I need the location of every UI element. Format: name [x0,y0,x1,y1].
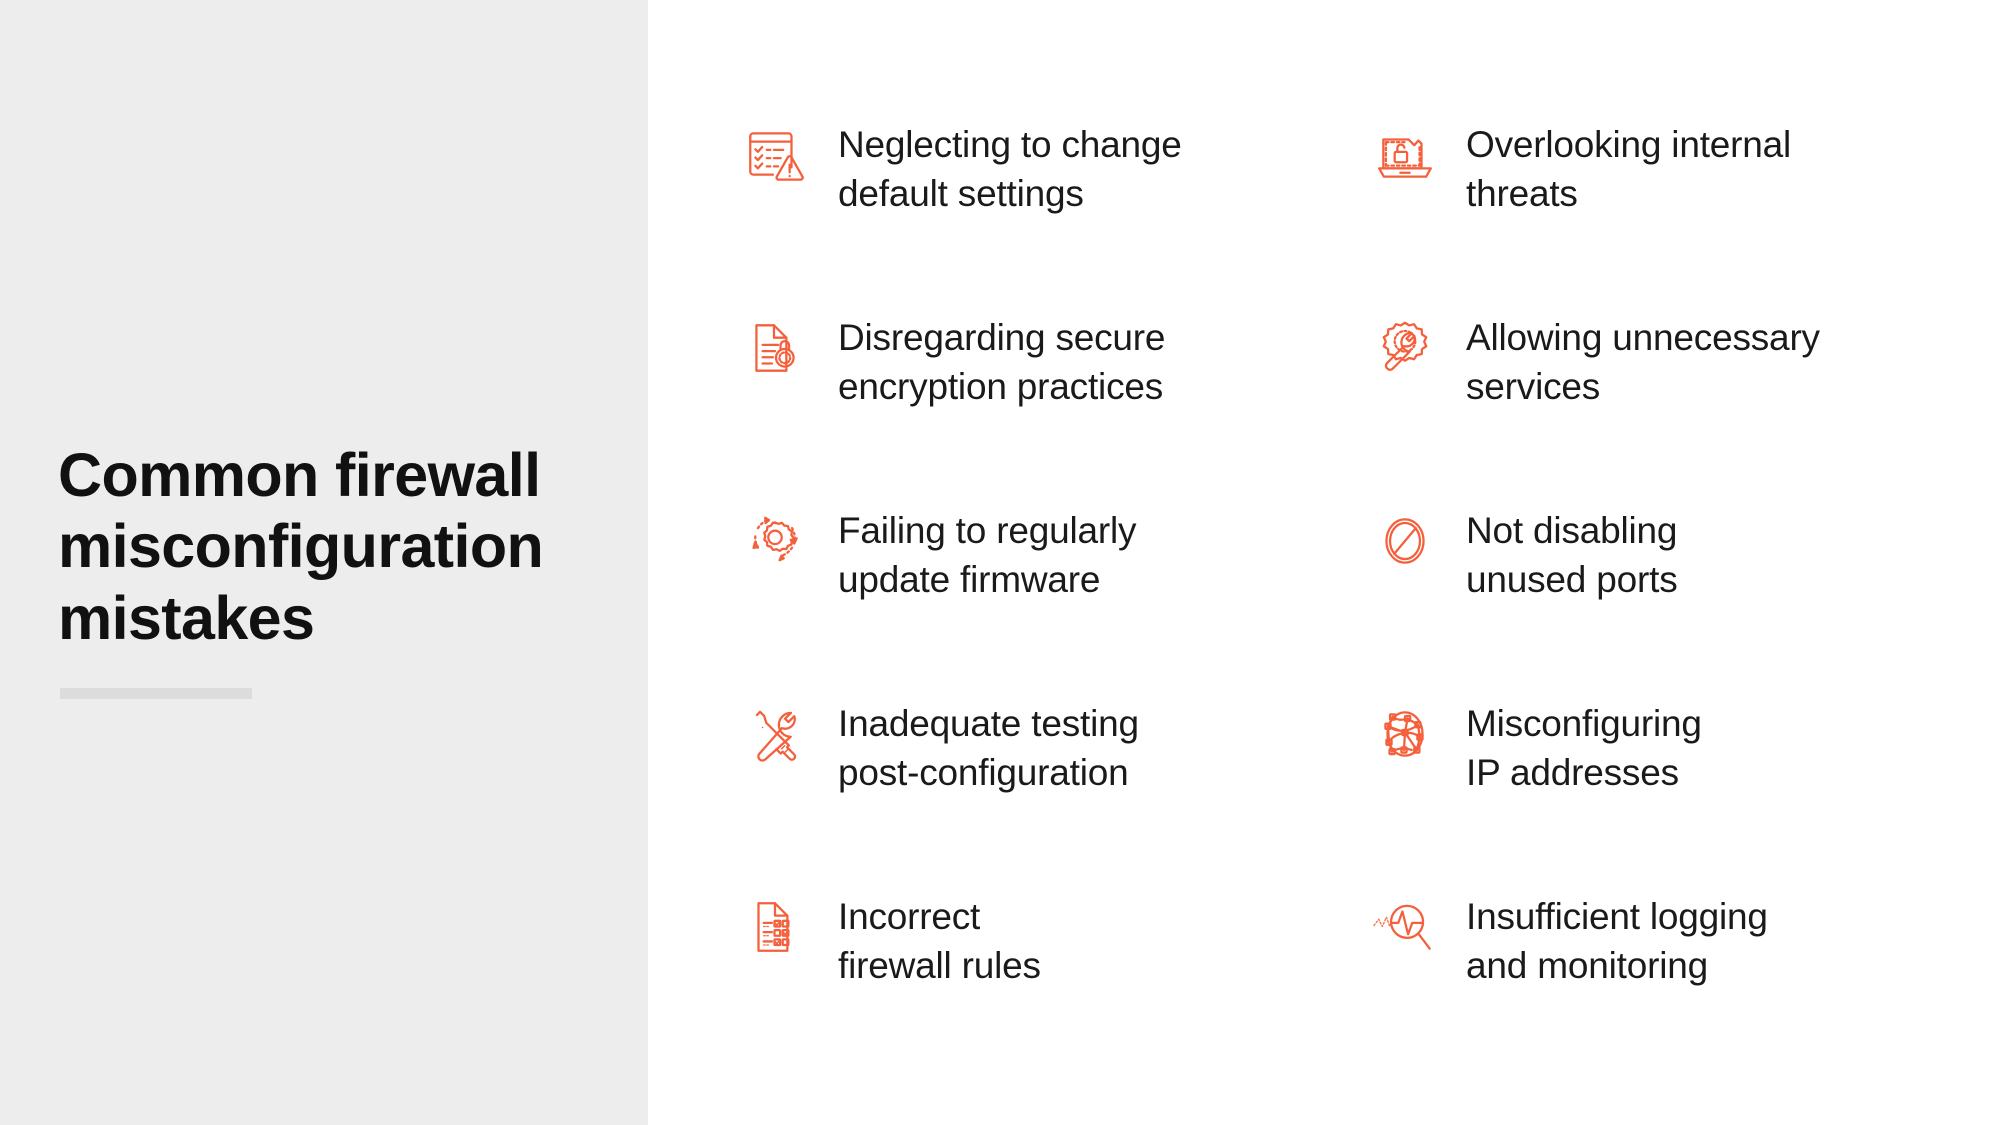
magnifier-pulse-icon [1368,890,1442,964]
list-item[interactable]: Failing to regularly update firmware [738,504,1338,697]
wrench-screwdriver-cross-icon [738,697,812,771]
list-item[interactable]: Not disabling unused ports [1368,504,1968,697]
mistakes-grid: Neglecting to change default settings [738,118,1968,1083]
list-item[interactable]: Overlooking internal threats [1368,118,1968,311]
list-item[interactable]: Insufficient logging and monitoring [1368,890,1968,1083]
list-item-label: Insufficient logging and monitoring [1466,890,1768,990]
list-item-label: Incorrect firewall rules [838,890,1041,990]
list-item-label: Inadequate testing post-configuration [838,697,1139,797]
list-item-label: Overlooking internal threats [1466,118,1791,218]
prohibition-sign-icon [1368,504,1442,578]
laptop-unlocked-padlock-icon [1368,118,1442,192]
list-item[interactable]: Allowing unnecessary services [1368,311,1968,504]
list-item-label: Not disabling unused ports [1466,504,1678,604]
list-item[interactable]: Misconfiguring IP addresses [1368,697,1968,890]
document-checkboxes-icon [738,890,812,964]
list-item-label: Misconfiguring IP addresses [1466,697,1702,797]
list-item-label: Disregarding secure encryption practices [838,311,1165,411]
list-item[interactable]: Disregarding secure encryption practices [738,311,1338,504]
list-item-label: Allowing unnecessary services [1466,311,1820,411]
wrench-gear-icon [1368,311,1442,385]
list-item[interactable]: Incorrect firewall rules [738,890,1338,1083]
title-panel: Common firewall misconfiguration mistake… [0,0,648,1125]
document-padlock-icon [738,311,812,385]
list-item-label: Failing to regularly update firmware [838,504,1136,604]
list-item-label: Neglecting to change default settings [838,118,1182,218]
list-item[interactable]: Inadequate testing post-configuration [738,697,1338,890]
list-item[interactable]: Neglecting to change default settings [738,118,1338,311]
gear-refresh-icon [738,504,812,578]
slide-root: Common firewall misconfiguration mistake… [0,0,1999,1125]
network-globe-icon [1368,697,1442,771]
checklist-warning-icon [738,118,812,192]
title-underline-rule [60,688,252,699]
page-title: Common firewall misconfiguration mistake… [58,440,578,654]
title-block: Common firewall misconfiguration mistake… [58,440,578,654]
content-panel: Neglecting to change default settings [648,0,1999,1125]
